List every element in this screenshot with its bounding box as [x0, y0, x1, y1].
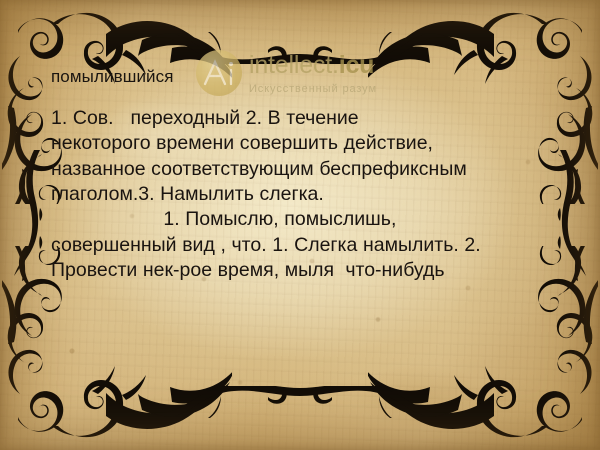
headword: помылившийся [51, 67, 174, 87]
watermark-text: intellect.icu Искусственный разум [249, 50, 377, 95]
definition-text: 1. Сов. переходный 2. В течение некоторо… [51, 106, 511, 283]
parchment-card: intellect.icu Искусственный разум помыли… [0, 0, 600, 450]
watermark-title-bold: icu [339, 51, 375, 79]
left-side-stem-icon [14, 150, 54, 310]
watermark: intellect.icu Искусственный разум [196, 50, 456, 102]
bottom-center-scroll-icon [150, 386, 450, 432]
watermark-title-main: intellect. [249, 51, 339, 79]
ai-badge-icon [196, 50, 242, 96]
watermark-subtitle: Искусственный разум [249, 84, 377, 95]
watermark-title: intellect.icu [249, 53, 377, 78]
right-side-stem-icon [546, 150, 586, 310]
